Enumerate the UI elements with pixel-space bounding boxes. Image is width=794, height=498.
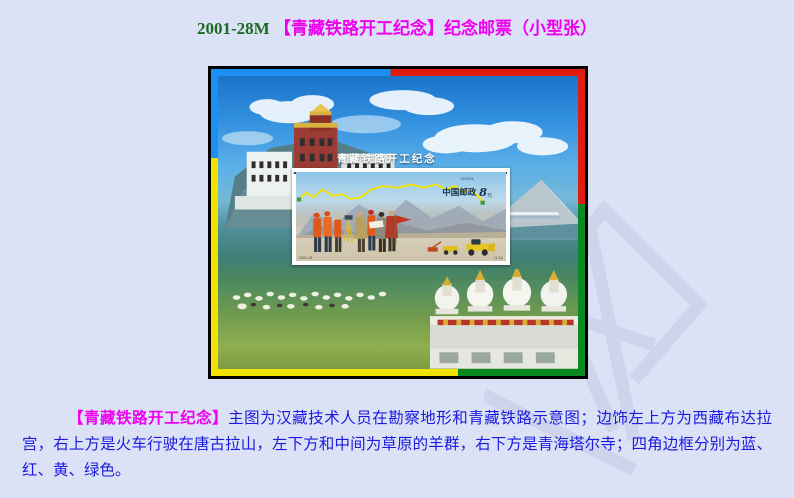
stamp-denomination-block: CHINA 中国邮政8元 <box>442 178 492 200</box>
taer-temple-graphic <box>430 269 578 369</box>
sheet-artwork: 青藏铁路开工纪念 <box>218 76 578 369</box>
stamp-denomination-unit: 元 <box>487 193 492 199</box>
stamp-footer-right: (1-1)J <box>494 256 503 260</box>
stamp-artwork: CHINA 中国邮政8元 2001-28 (1-1)J <box>296 172 506 261</box>
inner-stamp: CHINA 中国邮政8元 2001-28 (1-1)J <box>292 168 510 265</box>
souvenir-sheet-image: 青藏铁路开工纪念 <box>208 66 588 379</box>
title-issue-code: 2001-28M <box>197 19 270 38</box>
description-highlight: 【青藏铁路开工纪念】 <box>68 409 228 427</box>
stamp-issuer: 中国邮政 <box>442 186 476 198</box>
stamp-country-latin: CHINA <box>442 178 492 181</box>
construction-machines-graphic <box>426 233 502 256</box>
title-issue-name: 【青藏铁路开工纪念】纪念邮票（小型张） <box>274 19 597 38</box>
stamp-footer-left: 2001-28 <box>299 256 312 260</box>
surveyors-graphic <box>308 202 413 253</box>
stamp-denomination: 8 <box>479 186 487 199</box>
sheet-color-frame: 青藏铁路开工纪念 <box>211 69 585 376</box>
sheep-flock-graphic <box>229 287 416 313</box>
description-paragraph: 【青藏铁路开工纪念】主图为汉藏技术人员在勘察地形和青藏铁路示意图；边饰左上方为西… <box>22 405 772 483</box>
sheet-caption: 青藏铁路开工纪念 <box>337 151 437 166</box>
perforation-bottom <box>292 261 510 265</box>
page-title: 2001-28M 【青藏铁路开工纪念】纪念邮票（小型张） <box>0 14 794 39</box>
